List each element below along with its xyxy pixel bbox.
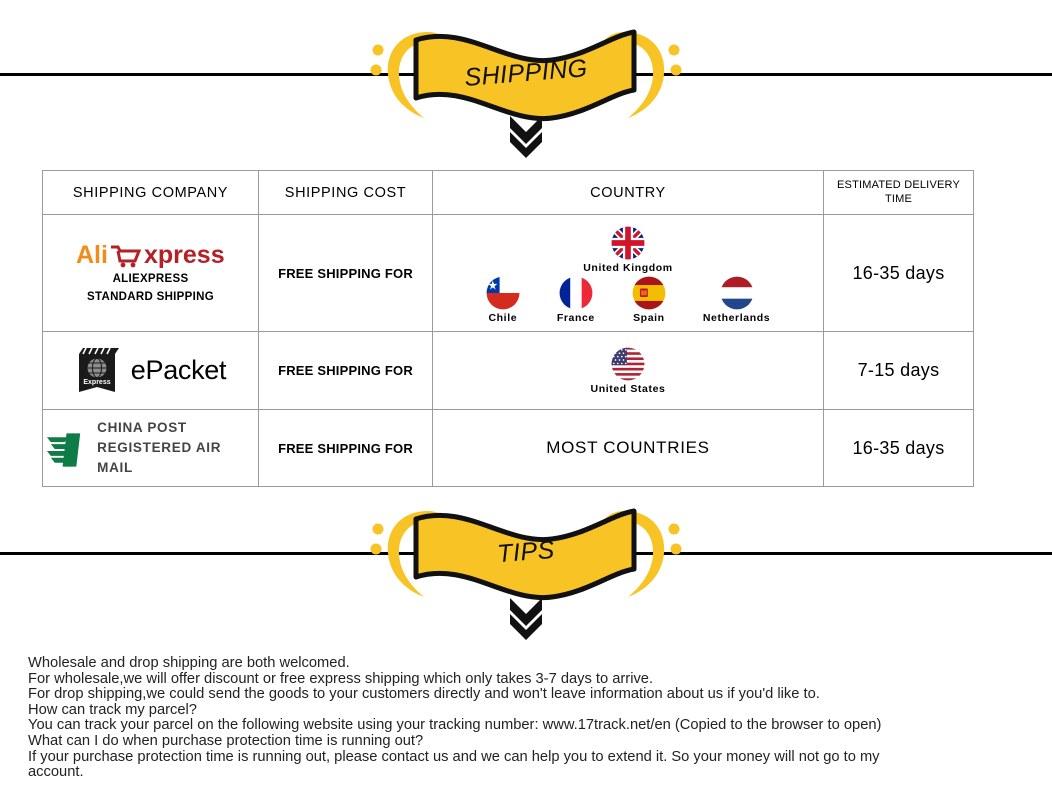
country-united-kingdom: United Kingdom	[583, 226, 672, 274]
svg-text:Express: Express	[83, 379, 110, 386]
cell-cost-china-post: FREE SHIPPING FOR	[259, 410, 433, 487]
flag-spain-icon	[632, 276, 666, 310]
shipping-table: SHIPPING COMPANY SHIPPING COST COUNTRY E…	[42, 170, 974, 487]
table-header-row: SHIPPING COMPANY SHIPPING COST COUNTRY E…	[43, 171, 974, 215]
tips-line: For drop shipping,we could send the good…	[28, 687, 1038, 703]
tips-line: You can track your parcel on the followi…	[28, 718, 1038, 734]
header-country: COUNTRY	[433, 171, 824, 215]
tips-ribbon-art	[356, 497, 696, 607]
cell-company-china-post: CHINA POST REGISTERED AIR MAIL	[43, 410, 259, 487]
double-chevron-down-icon-2	[506, 594, 546, 640]
country-label-netherlands: Netherlands	[703, 312, 770, 324]
cell-company-aliexpress: Ali xpress ALIEXPRESS STANDARD SHIPPING	[43, 215, 259, 332]
china-post-name-line1: CHINA POST	[97, 418, 258, 438]
epacket-logo-icon: Express	[75, 346, 119, 396]
country-netherlands: Netherlands	[703, 276, 770, 324]
country-label-chile: Chile	[488, 312, 517, 324]
china-post-logo-icon	[43, 427, 84, 469]
flag-chile-icon	[486, 276, 520, 310]
svg-text:Ali: Ali	[76, 241, 108, 269]
table-row: CHINA POST REGISTERED AIR MAIL FREE SHIP…	[43, 410, 974, 487]
tips-line: How can track my parcel?	[28, 703, 1038, 719]
flag-netherlands-icon	[720, 276, 754, 310]
tips-line: What can I do when purchase protection t…	[28, 734, 1038, 750]
china-post-name-line2: REGISTERED AIR MAIL	[97, 438, 258, 479]
country-label-uk: United Kingdom	[583, 262, 672, 274]
ribbon-shape	[416, 32, 634, 119]
country-chile: Chile	[486, 276, 520, 324]
aliexpress-name-line1: ALIEXPRESS	[113, 272, 189, 288]
country-spain: Spain	[632, 276, 666, 324]
country-france: France	[557, 276, 595, 324]
tips-text-block: Wholesale and drop shipping are both wel…	[28, 656, 1038, 781]
cell-eta-china-post: 16-35 days	[824, 410, 974, 487]
tips-line: If your purchase protection time is runn…	[28, 750, 1038, 766]
flag-usa-icon	[611, 347, 645, 381]
country-united-states: United States	[433, 347, 823, 395]
header-shipping-company: SHIPPING COMPANY	[43, 171, 259, 215]
flag-france-icon	[559, 276, 593, 310]
country-label-spain: Spain	[633, 312, 665, 324]
cell-company-epacket: Express ePacket	[43, 332, 259, 410]
header-shipping-cost: SHIPPING COST	[259, 171, 433, 215]
svg-text:xpress: xpress	[144, 241, 225, 269]
cell-countries-china-post: MOST COUNTRIES	[433, 410, 824, 487]
table-row: Ali xpress ALIEXPRESS STANDARD SHIPPING	[43, 215, 974, 332]
cell-cost-epacket: FREE SHIPPING FOR	[259, 332, 433, 410]
cell-eta-epacket: 7-15 days	[824, 332, 974, 410]
header-estimated-delivery-time: ESTIMATED DELIVERY TIME	[824, 171, 974, 215]
ribbon-shape	[416, 511, 634, 598]
cell-eta-aliexpress: 16-35 days	[824, 215, 974, 332]
epacket-name: ePacket	[131, 355, 226, 386]
double-chevron-down-icon-1	[506, 112, 546, 158]
cell-cost-aliexpress: FREE SHIPPING FOR	[259, 215, 433, 332]
tips-line: Wholesale and drop shipping are both wel…	[28, 656, 1038, 672]
tips-line: For wholesale,we will offer discount or …	[28, 672, 1038, 688]
tips-banner: TIPS	[0, 497, 1052, 607]
tips-line: account.	[28, 765, 1038, 781]
country-label-france: France	[557, 312, 595, 324]
cell-countries-aliexpress: United Kingdom	[433, 215, 824, 332]
country-label-united-states: United States	[591, 383, 666, 395]
shipping-info-page: SHIPPING SHIPPING COMPANY SHIPPING COST …	[0, 0, 1052, 790]
table-row: Express ePacket FREE SHIPPING FOR	[43, 332, 974, 410]
aliexpress-logo-icon: Ali xpress	[76, 240, 226, 270]
aliexpress-name-line2: STANDARD SHIPPING	[87, 290, 214, 306]
flag-uk-icon	[611, 226, 645, 260]
cell-countries-epacket: United States	[433, 332, 824, 410]
